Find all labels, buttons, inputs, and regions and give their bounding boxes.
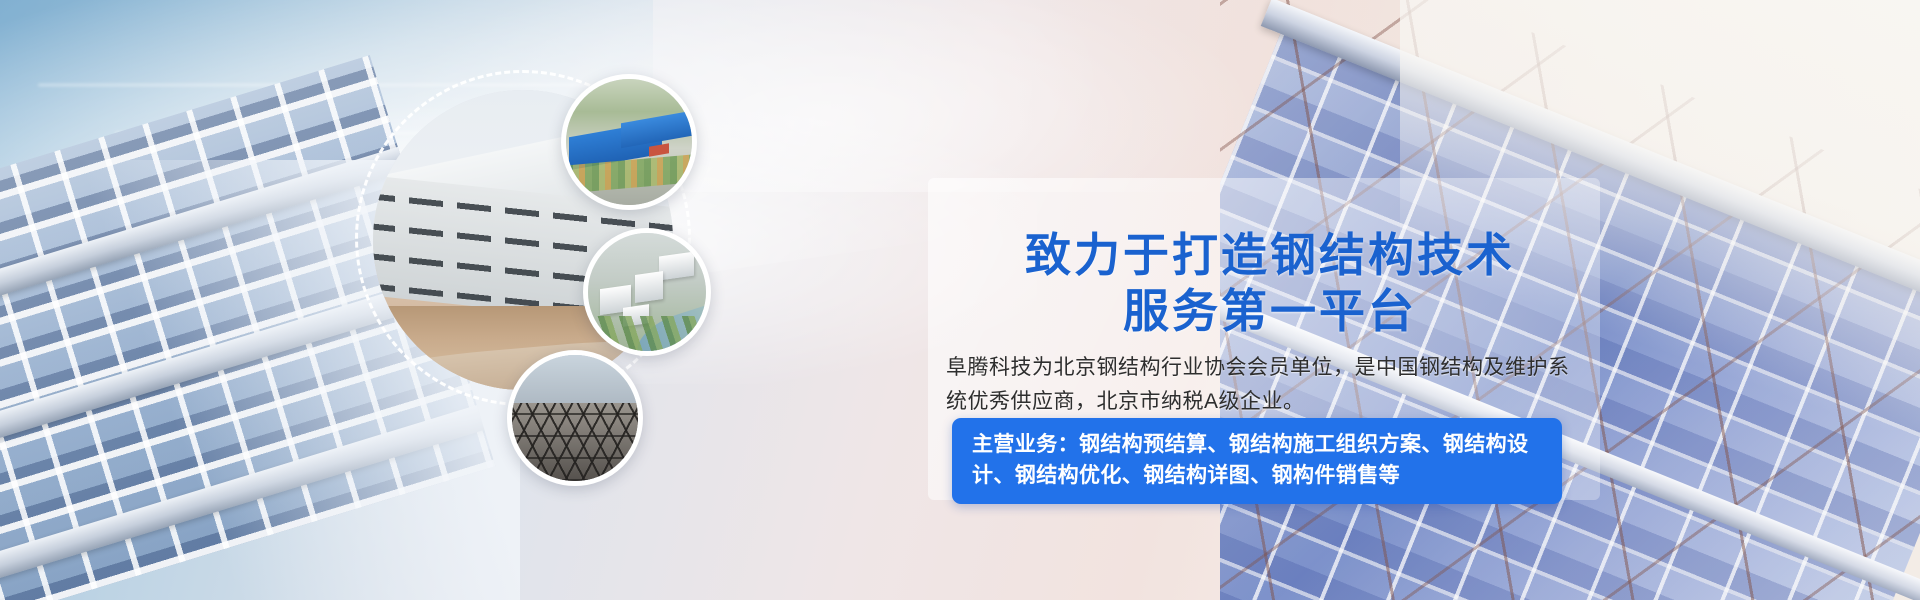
collage-thumb-3 xyxy=(507,350,643,486)
main-business-badge: 主营业务：钢结构预结算、钢结构施工组织方案、钢结构设计、钢结构优化、钢结构详图、… xyxy=(952,418,1562,504)
steel-space-frame-truss-photo xyxy=(512,355,638,481)
page-title: 致力于打造钢结构技术 服务第一平台 xyxy=(940,227,1600,339)
space-frame-truss xyxy=(507,403,643,481)
tree-line xyxy=(588,316,706,351)
industrial-park-campus-aerial-photo xyxy=(588,233,706,351)
headline-line-1: 致力于打造钢结构技术 xyxy=(1025,228,1515,282)
campus-building xyxy=(659,252,694,281)
campus-building xyxy=(635,271,663,303)
headline-line-2: 服务第一平台 xyxy=(940,283,1600,339)
photo-collage xyxy=(355,48,775,518)
company-description: 阜腾科技为北京钢结构行业协会会员单位，是中国钢结构及维护系统优秀供应商，北京市纳… xyxy=(946,351,1586,419)
collage-thumb-1 xyxy=(561,74,697,210)
blue-roof-factory-aerial-photo xyxy=(566,79,692,205)
hero-banner: 致力于打造钢结构技术 服务第一平台 阜腾科技为北京钢结构行业协会会员单位，是中国… xyxy=(0,0,1920,600)
sky xyxy=(512,355,638,405)
collage-thumb-2 xyxy=(583,228,711,356)
